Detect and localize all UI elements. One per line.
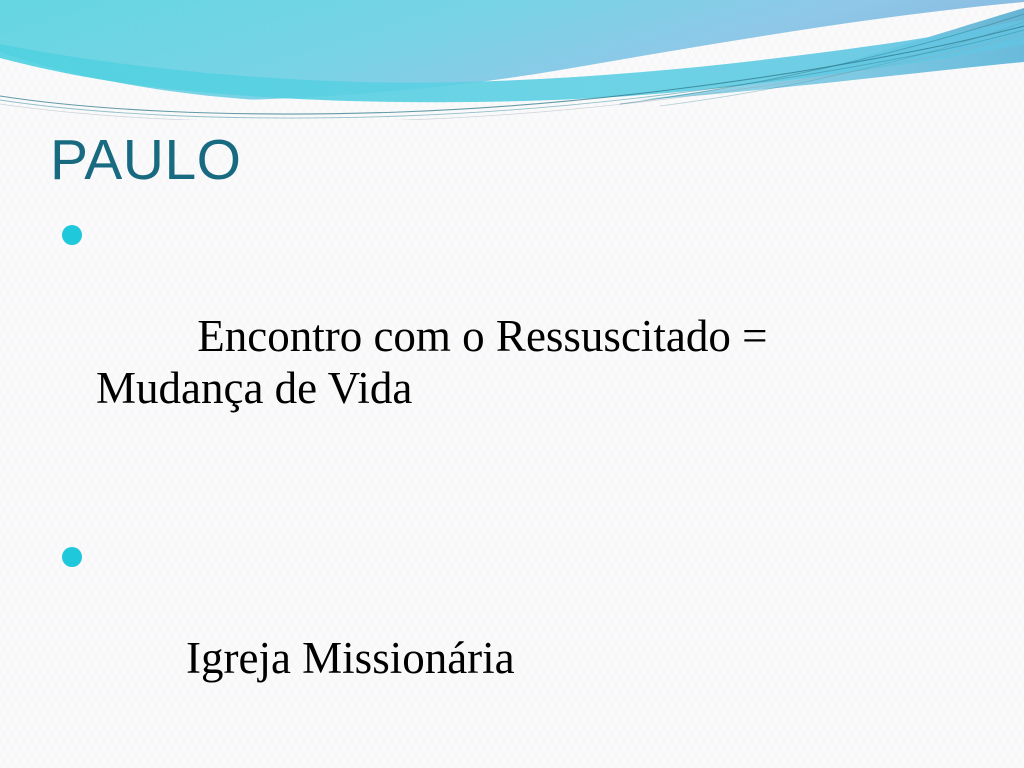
bullet-dot-icon xyxy=(62,225,82,245)
bullet-item-2: Igreja Missionária xyxy=(54,528,954,736)
presentation-slide: PAULO Encontro com o Ressuscitado = Muda… xyxy=(0,0,1024,768)
bullet-text: Encontro com o Ressuscitado = Mudança de… xyxy=(96,311,779,413)
bullet-dot-icon xyxy=(62,547,82,567)
slide-title: PAULO xyxy=(50,128,242,192)
bullet-item-1: Encontro com o Ressuscitado = Mudança de… xyxy=(54,206,836,466)
slide-content: PAULO Encontro com o Ressuscitado = Muda… xyxy=(0,0,1024,768)
bullet-text: Igreja Missionária xyxy=(186,633,515,683)
bullet-list: Encontro com o Ressuscitado = Mudança de… xyxy=(54,206,954,768)
